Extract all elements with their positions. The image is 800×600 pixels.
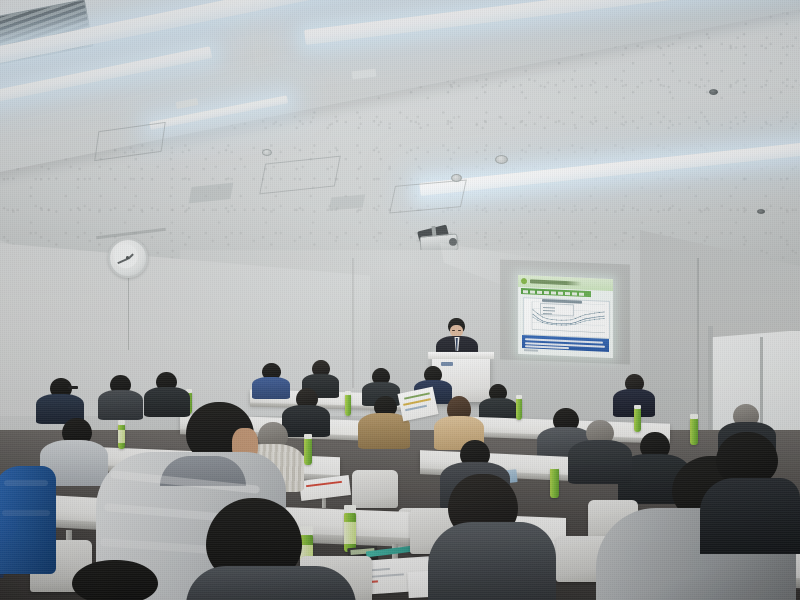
- bottle-r4b: [304, 438, 312, 465]
- bottle-cap-r5b: [345, 391, 351, 395]
- slide-page-number: [524, 349, 538, 352]
- attendee-body-e3: [144, 387, 190, 417]
- bottle-cap-r5c: [516, 395, 522, 399]
- bottle-cap-r5d: [634, 405, 641, 409]
- jacket-seam-1: [4, 480, 48, 486]
- bottle-r5d: [634, 408, 641, 432]
- bottle-label-r4a: [118, 430, 125, 443]
- bottle-cap-r4a: [118, 420, 125, 425]
- bottle-label-r3a: [344, 522, 356, 544]
- projected-slide: [518, 275, 613, 358]
- bottle-r4c: [550, 468, 559, 498]
- attendee-suit-fg-right2: [700, 478, 800, 554]
- smoke-detector-icon-1: [709, 89, 718, 95]
- slide-logo-icon: [521, 278, 527, 284]
- bottle-r5b: [345, 394, 351, 416]
- podium-item: [441, 362, 453, 366]
- sprinkler-icon-3: [262, 149, 272, 156]
- bottle-cap-r5e: [690, 414, 698, 419]
- slide-chart-legend: [540, 303, 574, 317]
- chair-r4b: [352, 470, 398, 508]
- seminar-room-photo: [0, 0, 800, 600]
- podium-top: [428, 352, 494, 359]
- bottle-cap-r3a: [344, 505, 356, 513]
- attendee-body-e4: [282, 405, 330, 437]
- attendee-body-f1: [252, 377, 290, 399]
- smoke-detector-icon-2: [757, 209, 765, 214]
- sprinkler-icon-2: [451, 174, 462, 182]
- wall-corner-left: [352, 258, 354, 388]
- attendee-head-fg-left: [72, 560, 158, 600]
- bottle-r5c: [516, 398, 522, 420]
- projector-lens-icon: [449, 238, 457, 246]
- jacket-seam-2: [2, 510, 50, 516]
- glasses-icon-e1: [68, 386, 78, 389]
- attendee-body-d5: [568, 440, 632, 484]
- attendee-body-fg-cr: [428, 522, 556, 600]
- sprinkler-icon-1: [495, 155, 508, 164]
- bottle-cap-r4c: [550, 463, 559, 469]
- whiteboard-marker-line: [760, 337, 763, 423]
- bottle-r5e: [690, 418, 698, 445]
- bottle-cap-r4b: [304, 434, 312, 439]
- attendee-body-e2: [98, 390, 143, 420]
- attendee-body-fg-center: [186, 566, 356, 600]
- bottle-cap-r3b: [300, 526, 313, 535]
